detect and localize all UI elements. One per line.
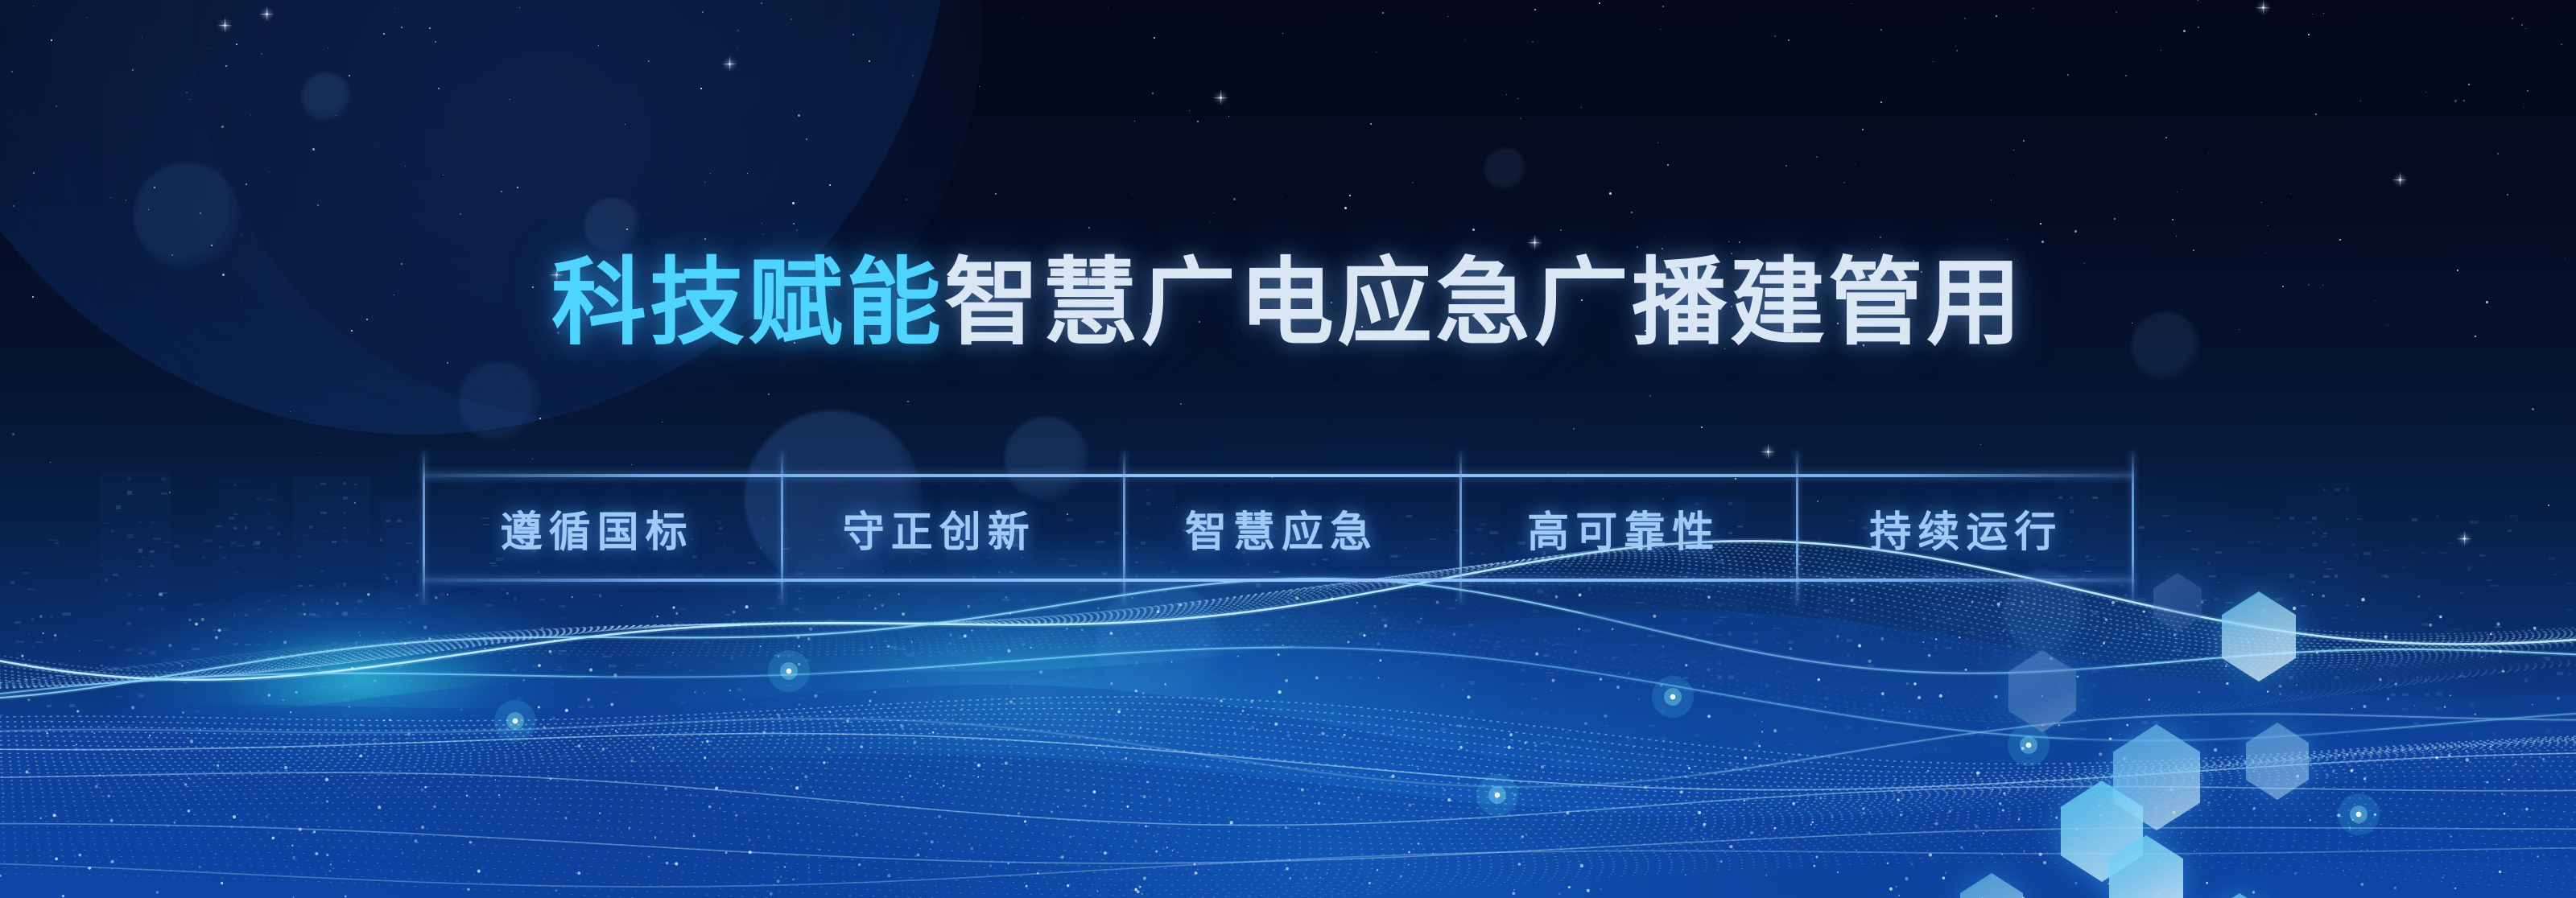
hexagon-cluster — [0, 0, 2576, 898]
hexagon-shape — [2008, 650, 2076, 732]
subtitle-list: 遵循国标 守正创新 智慧应急 高可靠性 持续运行 — [423, 474, 2134, 582]
subtitle-item-4: 持续运行 — [1792, 498, 2134, 558]
subtitle-frame: 遵循国标 守正创新 智慧应急 高可靠性 持续运行 — [423, 474, 2134, 582]
hexagon-shape — [2222, 591, 2296, 682]
hero-banner: 科技赋能智慧广电应急广播建管用 遵循国标 守正创新 智慧应急 高可靠性 持续运行 — [0, 0, 2576, 898]
page-title: 科技赋能智慧广电应急广播建管用 — [0, 256, 2576, 351]
title-plain-segment: 智慧广电应急广播建管用 — [944, 250, 2025, 356]
title-highlight-segment: 科技赋能 — [551, 250, 944, 356]
subtitle-item-0: 遵循国标 — [423, 498, 765, 558]
subtitle-item-3: 高可靠性 — [1450, 498, 1792, 558]
hexagon-shape — [2246, 723, 2309, 800]
subtitle-item-2: 智慧应急 — [1107, 498, 1449, 558]
subtitle-item-1: 守正创新 — [765, 498, 1107, 558]
hexagon-shape — [1960, 873, 2023, 898]
hexagon-shape — [2153, 573, 2202, 632]
hexagon-shape — [2206, 893, 2273, 898]
hexagon-shape — [2109, 835, 2183, 898]
